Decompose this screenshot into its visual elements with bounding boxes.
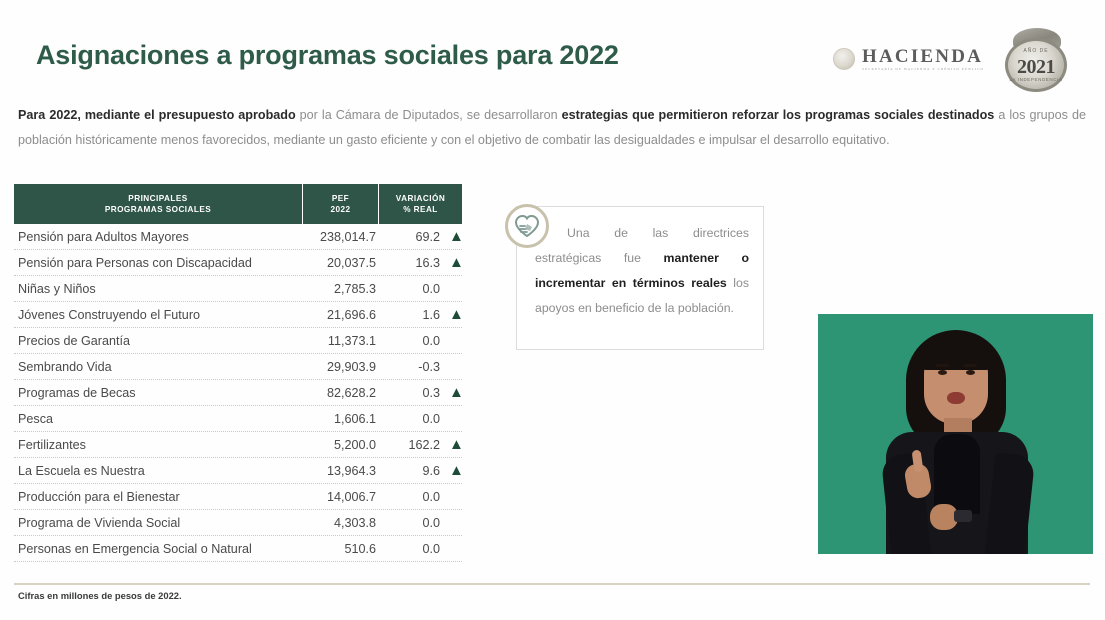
text-run-bold: estrategias que permitieron reforzar los… [562,108,995,122]
column-header-program-line2: PROGRAMAS SOCIALES [105,204,211,215]
cell-program-name: La Escuela es Nuestra [14,464,302,478]
interpreter-mouth [947,392,965,404]
table-row: Programa de Vivienda Social4,303.80.0▲ [14,510,462,536]
table-row: Fertilizantes5,200.0162.2▲ [14,432,462,458]
cell-real-variation: 0.0 [378,334,462,348]
interpreter-brow-left [936,364,949,367]
cell-real-variation: 0.0 [378,516,462,530]
text-run-bold: Para 2022, mediante el presupuesto aprob… [18,108,296,122]
slide-canvas: Asignaciones a programas sociales para 2… [0,0,1105,620]
cell-pef-amount: 5,200.0 [302,438,378,452]
footer-note: Cifras en millones de pesos de 2022. [18,590,182,601]
medal-year: 2021 [1005,56,1067,79]
intro-paragraph: Para 2022, mediante el presupuesto aprob… [18,103,1086,153]
column-header-variation-line1: VARIACIÓN [396,193,445,204]
cell-pef-amount: 82,628.2 [302,386,378,400]
table-row: Precios de Garantía11,373.10.0▲ [14,328,462,354]
column-header-variation: VARIACIÓN % REAL [378,184,462,224]
mexico-eagle-seal-icon [833,48,855,70]
cell-pef-amount: 510.6 [302,542,378,556]
cell-program-name: Producción para el Bienestar [14,490,302,504]
table-row: Producción para el Bienestar14,006.70.0▲ [14,484,462,510]
table-header-row: PRINCIPALES PROGRAMAS SOCIALES PEF 2022 … [14,184,462,224]
hacienda-wordmark: HACIENDA [862,47,984,66]
column-header-pef-line1: PEF [332,193,349,204]
cell-program-name: Personas en Emergencia Social o Natural [14,542,302,556]
column-header-pef-line2: 2022 [330,204,350,215]
callout-box: Una de las directrices estratégicas fue … [516,206,764,350]
interpreter-eye-right [966,370,975,375]
cell-program-name: Sembrando Vida [14,360,302,374]
interpreter-shirt [934,434,980,514]
cell-pef-amount: 13,964.3 [302,464,378,478]
table-row: Pensión para Adultos Mayores238,014.769.… [14,224,462,250]
column-header-pef: PEF 2022 [302,184,378,224]
arrow-up-icon: ▲ [449,256,461,270]
column-header-program: PRINCIPALES PROGRAMAS SOCIALES [14,184,302,224]
cell-real-variation: 0.0 [378,542,462,556]
table-row: Personas en Emergencia Social o Natural5… [14,536,462,562]
arrow-up-icon: ▲ [449,438,461,452]
hacienda-logo-text: HACIENDA SECRETARÍA DE HACIENDA Y CRÉDIT… [862,47,984,71]
cell-real-variation: 0.0 [378,490,462,504]
cell-program-name: Jóvenes Construyendo el Futuro [14,308,302,322]
medal-bottom-text: LA INDEPENDENCIA [1005,77,1067,82]
cell-pef-amount: 20,037.5 [302,256,378,270]
table-body: Pensión para Adultos Mayores238,014.769.… [14,224,462,562]
arrow-up-icon: ▲ [449,308,461,322]
column-header-variation-line2: % REAL [403,204,438,215]
interpreter-hair-front [919,336,993,370]
heart-handshake-icon [505,204,549,248]
cell-program-name: Programa de Vivienda Social [14,516,302,530]
footer-divider [14,583,1090,585]
interpreter-wristwatch [954,510,972,522]
table-row: Sembrando Vida29,903.9-0.3▲ [14,354,462,380]
table-row: Programas de Becas82,628.20.3▲ [14,380,462,406]
cell-program-name: Fertilizantes [14,438,302,452]
arrow-up-icon: ▲ [449,230,461,244]
cell-pef-amount: 14,006.7 [302,490,378,504]
text-run: por la Cámara de Diputados, se desarroll… [296,108,562,122]
table-row: Pesca1,606.10.0▲ [14,406,462,432]
cell-pef-amount: 4,303.8 [302,516,378,530]
interpreter-brow-right [964,364,977,367]
cell-program-name: Niñas y Niños [14,282,302,296]
cell-pef-amount: 238,014.7 [302,230,378,244]
sign-language-interpreter-video [818,314,1093,554]
page-title: Asignaciones a programas sociales para 2… [36,40,619,71]
cell-real-variation: 0.0 [378,412,462,426]
table-row: Jóvenes Construyendo el Futuro21,696.61.… [14,302,462,328]
interpreter-eye-left [938,370,947,375]
cell-program-name: Pensión para Personas con Discapacidad [14,256,302,270]
arrow-up-icon: ▲ [449,464,461,478]
cell-pef-amount: 1,606.1 [302,412,378,426]
cell-program-name: Precios de Garantía [14,334,302,348]
cell-program-name: Programas de Becas [14,386,302,400]
cell-pef-amount: 21,696.6 [302,308,378,322]
hacienda-logo: HACIENDA SECRETARÍA DE HACIENDA Y CRÉDIT… [833,47,984,71]
hacienda-subtitle: SECRETARÍA DE HACIENDA Y CRÉDITO PÚBLICO [862,68,984,71]
social-programs-table: PRINCIPALES PROGRAMAS SOCIALES PEF 2022 … [14,184,462,562]
table-row: Pensión para Personas con Discapacidad20… [14,250,462,276]
column-header-program-line1: PRINCIPALES [128,193,187,204]
medal-2021-logo: AÑO DE 2021 LA INDEPENDENCIA [1001,28,1073,94]
table-row: Niñas y Niños2,785.30.0▲ [14,276,462,302]
cell-real-variation: 0.0 [378,282,462,296]
cell-program-name: Pesca [14,412,302,426]
cell-real-variation: -0.3 [378,360,462,374]
table-row: La Escuela es Nuestra13,964.39.6▲ [14,458,462,484]
cell-pef-amount: 29,903.9 [302,360,378,374]
cell-program-name: Pensión para Adultos Mayores [14,230,302,244]
arrow-up-icon: ▲ [449,386,461,400]
medal-top-text: AÑO DE [1005,48,1067,54]
cell-pef-amount: 2,785.3 [302,282,378,296]
callout-text: Una de las directrices estratégicas fue … [517,207,763,331]
cell-pef-amount: 11,373.1 [302,334,378,348]
